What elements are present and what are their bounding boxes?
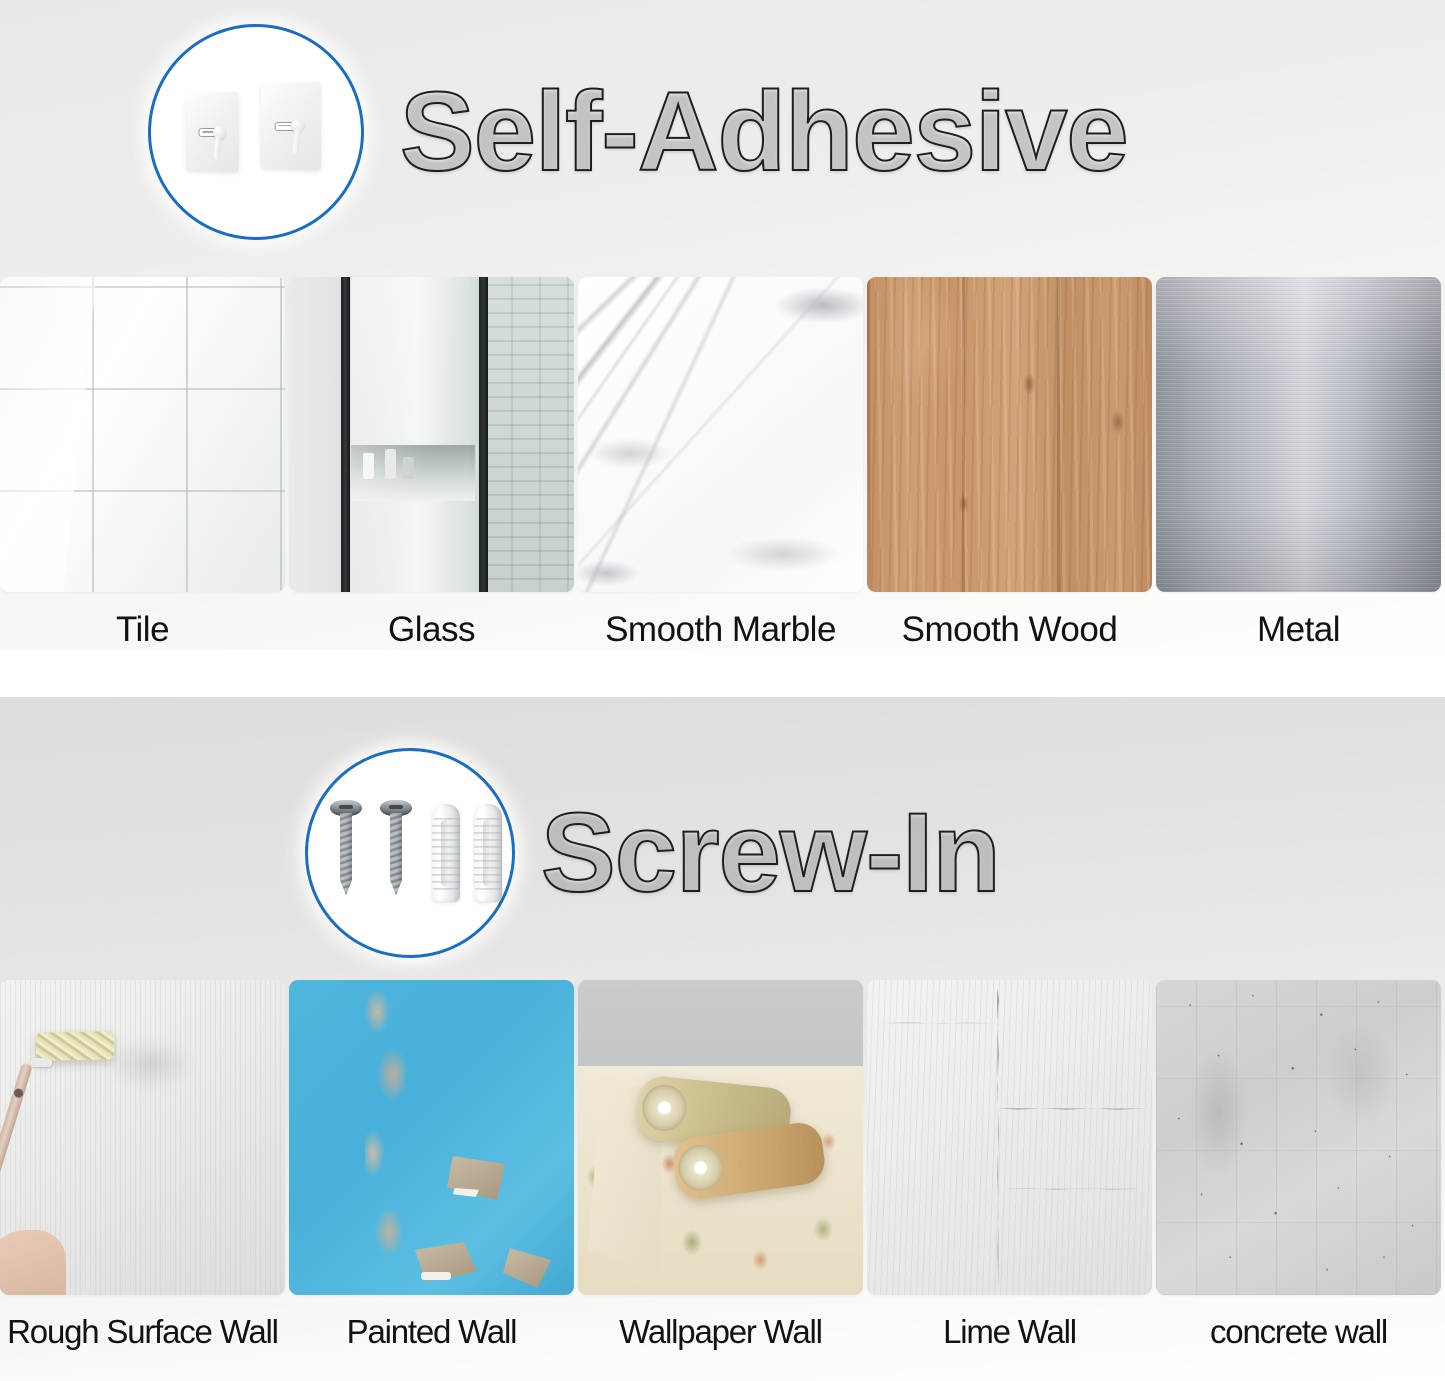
surface-item: Smooth Marble bbox=[578, 277, 863, 650]
glass-shower-texture bbox=[289, 277, 574, 592]
surface-item: Smooth Wood bbox=[867, 277, 1152, 650]
section-screw-in: Screw-In Rough Surface Wall bbox=[0, 697, 1445, 1381]
section-title-screw-in: Screw-In bbox=[541, 797, 1000, 909]
surface-item: Lime Wall bbox=[867, 980, 1152, 1351]
plate-stem bbox=[292, 127, 301, 154]
roll-endcap bbox=[675, 1142, 725, 1194]
wall-anchor-icon bbox=[432, 804, 460, 902]
surface-label: concrete wall bbox=[1156, 1313, 1441, 1351]
roller-shadow bbox=[108, 1038, 194, 1090]
hand-detail bbox=[0, 1230, 66, 1295]
adhesive-plate bbox=[261, 82, 321, 171]
screws-and-anchors-icon bbox=[318, 792, 502, 914]
tile-texture bbox=[0, 277, 285, 592]
paint-roller-icon bbox=[36, 1031, 114, 1060]
adhesive-plate bbox=[186, 92, 238, 172]
surface-item: Glass bbox=[289, 277, 574, 650]
screw-icon bbox=[336, 800, 356, 906]
wall-crack bbox=[885, 1022, 993, 1024]
surface-item: concrete wall bbox=[1156, 980, 1441, 1351]
glass-reflection bbox=[351, 277, 471, 592]
roller-handle bbox=[0, 1062, 33, 1209]
surface-label: Tile bbox=[0, 610, 285, 650]
header-self-adhesive: Self-Adhesive bbox=[148, 24, 1128, 240]
surface-item: Rough Surface Wall bbox=[0, 980, 285, 1351]
wall-anchor-icon bbox=[474, 804, 502, 902]
adhesive-wall-plates-icon bbox=[171, 77, 341, 187]
surface-item: Metal bbox=[1156, 277, 1441, 650]
header-screw-in: Screw-In bbox=[305, 748, 1000, 958]
surface-label: Wallpaper Wall bbox=[578, 1313, 863, 1351]
section-self-adhesive: Self-Adhesive Tile Glass bbox=[0, 0, 1445, 690]
concrete-texture bbox=[1156, 980, 1441, 1295]
roller-cap bbox=[30, 1058, 52, 1067]
badge-screw-in bbox=[305, 748, 515, 958]
marble-texture bbox=[578, 277, 863, 592]
wall-crack bbox=[997, 988, 999, 1288]
surface-grid-self-adhesive: Tile Glass Smooth Marble bbox=[0, 277, 1445, 650]
screw-icon bbox=[386, 800, 406, 906]
glass-frame-bar bbox=[341, 277, 350, 592]
brushed-metal-texture bbox=[1156, 277, 1441, 592]
surface-grid-screw-in: Rough Surface Wall Painted Wall bbox=[0, 980, 1445, 1351]
surface-label: Rough Surface Wall bbox=[0, 1313, 285, 1351]
surface-label: Glass bbox=[289, 610, 574, 650]
paint-roller-wall-texture bbox=[0, 980, 285, 1295]
paint-chip bbox=[503, 1248, 551, 1288]
screw-shaft bbox=[340, 813, 352, 895]
surface-item: Tile bbox=[0, 277, 285, 650]
wall-crack bbox=[1003, 1188, 1143, 1190]
peeling-blue-paint-texture bbox=[289, 980, 574, 1295]
surface-item: Painted Wall bbox=[289, 980, 574, 1351]
exposed-plaster bbox=[289, 980, 387, 1295]
screw-shaft bbox=[390, 813, 402, 895]
roll-endcap bbox=[640, 1083, 689, 1133]
paint-chip-highlight bbox=[421, 1272, 451, 1280]
brick-wall-detail bbox=[485, 277, 574, 592]
section-title-self-adhesive: Self-Adhesive bbox=[400, 76, 1128, 188]
surface-label: Metal bbox=[1156, 610, 1441, 650]
wallpaper-rolls-texture bbox=[578, 980, 863, 1295]
surface-label: Smooth Wood bbox=[867, 610, 1152, 650]
wall-crack bbox=[997, 1108, 1147, 1110]
surface-label: Smooth Marble bbox=[578, 610, 863, 650]
surface-label: Lime Wall bbox=[867, 1313, 1152, 1351]
glass-frame-bar bbox=[479, 277, 488, 592]
badge-self-adhesive bbox=[148, 24, 364, 240]
surface-label: Painted Wall bbox=[289, 1313, 574, 1351]
surface-item: Wallpaper Wall bbox=[578, 980, 863, 1351]
cracked-lime-wall-texture bbox=[867, 980, 1152, 1295]
plate-stem bbox=[214, 133, 223, 160]
wood-grain-texture bbox=[867, 277, 1152, 592]
section-divider bbox=[0, 650, 1445, 697]
infographic-page: Self-Adhesive Tile Glass bbox=[0, 0, 1445, 1381]
